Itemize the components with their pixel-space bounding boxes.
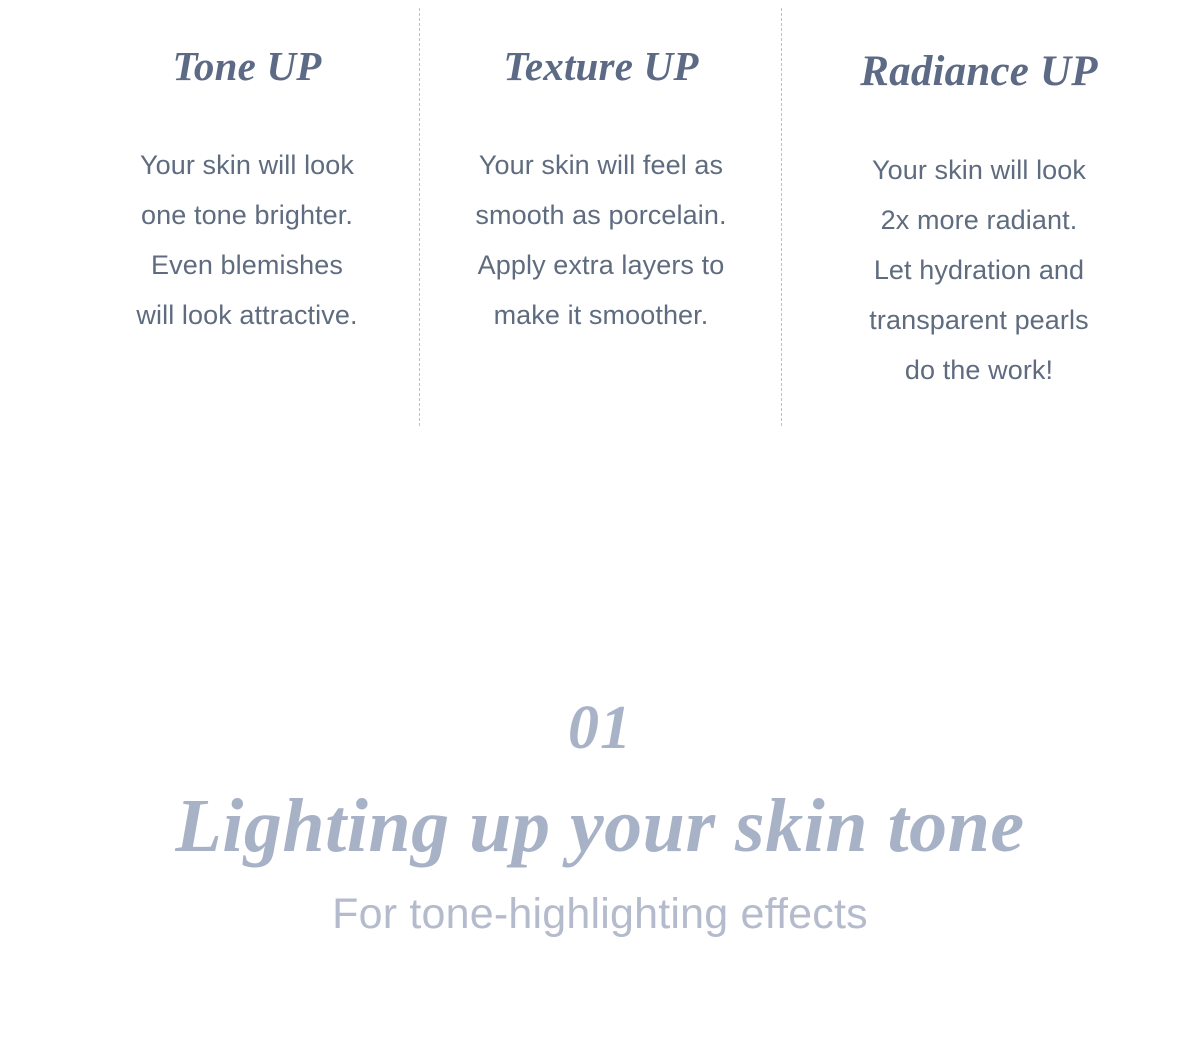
column-divider-1 xyxy=(419,8,420,426)
benefit-body-line: make it smoother. xyxy=(432,290,770,340)
feature-headline-section: 01 Lighting up your skin tone For tone-h… xyxy=(0,688,1200,942)
benefit-heading-texture-up: Texture UP xyxy=(432,0,770,87)
benefit-column-radiance-up: Radiance UP Your skin will look 2x more … xyxy=(810,0,1148,395)
benefit-body-line: will look attractive. xyxy=(78,290,416,340)
benefit-body-line: Apply extra layers to xyxy=(432,240,770,290)
benefits-section: Tone UP Your skin will look one tone bri… xyxy=(0,0,1200,440)
benefit-body-line: do the work! xyxy=(810,345,1148,395)
benefit-column-tone-up: Tone UP Your skin will look one tone bri… xyxy=(78,0,416,340)
benefit-body-line: Let hydration and xyxy=(810,245,1148,295)
benefit-heading-tone-up: Tone UP xyxy=(78,0,416,87)
benefit-body-line: smooth as porcelain. xyxy=(432,190,770,240)
benefit-body-line: Your skin will feel as xyxy=(432,140,770,190)
benefit-body-line: Even blemishes xyxy=(78,240,416,290)
benefit-body-radiance-up: Your skin will look 2x more radiant. Let… xyxy=(810,93,1148,395)
column-divider-2 xyxy=(781,8,782,426)
feature-title: Lighting up your skin tone xyxy=(0,768,1200,872)
benefit-column-texture-up: Texture UP Your skin will feel as smooth… xyxy=(432,0,770,340)
benefit-body-texture-up: Your skin will feel as smooth as porcela… xyxy=(432,87,770,340)
feature-step-number: 01 xyxy=(0,688,1200,768)
benefit-body-line: transparent pearls xyxy=(810,295,1148,345)
benefit-body-line: 2x more radiant. xyxy=(810,195,1148,245)
benefit-body-line: Your skin will look xyxy=(78,140,416,190)
benefit-body-line: one tone brighter. xyxy=(78,190,416,240)
benefit-body-tone-up: Your skin will look one tone brighter. E… xyxy=(78,87,416,340)
feature-subtitle: For tone-highlighting effects xyxy=(0,872,1200,942)
benefit-body-line: Your skin will look xyxy=(810,145,1148,195)
benefit-heading-radiance-up: Radiance UP xyxy=(810,0,1148,93)
